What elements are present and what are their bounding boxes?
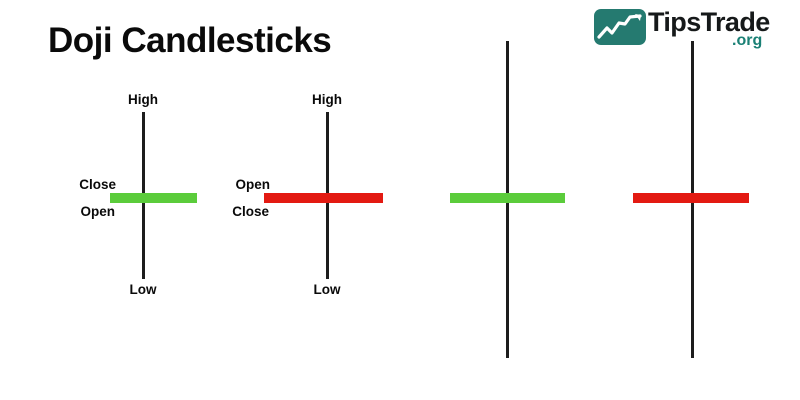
label-open: Open bbox=[80, 204, 115, 220]
label-close: Close bbox=[79, 177, 116, 193]
candle-body bbox=[264, 193, 383, 203]
label-open: Open bbox=[235, 177, 270, 193]
page-title: Doji Candlesticks bbox=[48, 20, 331, 62]
label-low: Low bbox=[314, 282, 341, 298]
candle-body bbox=[633, 193, 749, 203]
label-low: Low bbox=[130, 282, 157, 298]
candle-body bbox=[110, 193, 197, 203]
candle-body bbox=[450, 193, 565, 203]
tipstrade-logo[interactable]: TipsTrade .org bbox=[594, 6, 794, 52]
logo-tld: .org bbox=[732, 32, 762, 50]
line-chart-uptrend-icon bbox=[594, 9, 646, 45]
label-close: Close bbox=[232, 204, 269, 220]
label-high: High bbox=[312, 92, 342, 108]
diagram-canvas: Doji Candlesticks TipsTrade .org High Cl… bbox=[0, 0, 800, 400]
label-high: High bbox=[128, 92, 158, 108]
